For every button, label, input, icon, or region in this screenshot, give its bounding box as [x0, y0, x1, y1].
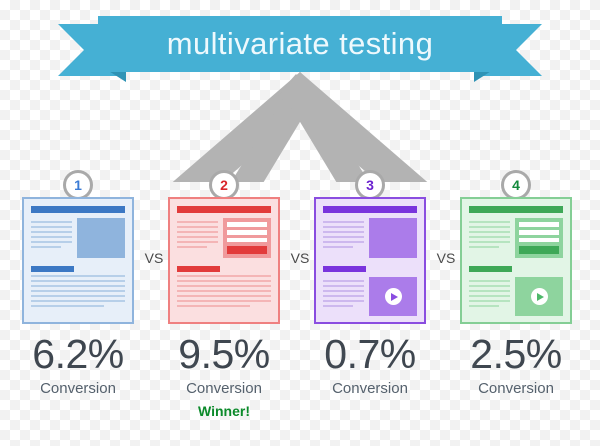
stat-variant-2: 9.5% Conversion Winner!: [156, 334, 292, 419]
text-lines-column: [323, 218, 364, 260]
conversion-value: 6.2%: [10, 334, 146, 375]
body-text-lines: [31, 272, 125, 316]
pin-circle: 3: [355, 170, 385, 200]
body-text-lines: [177, 272, 271, 316]
hero-image-block: [369, 218, 417, 258]
play-icon[interactable]: [531, 288, 548, 305]
pin-circle: 1: [63, 170, 93, 200]
card-upper-section: [177, 218, 271, 260]
text-lines-column: [469, 218, 510, 260]
variant-card-4[interactable]: [460, 197, 572, 324]
pin-number: 1: [74, 178, 82, 192]
form-input-field[interactable]: [519, 222, 559, 227]
banner-band: multivariate testing: [98, 16, 502, 72]
form-input-field[interactable]: [227, 230, 267, 235]
vs-label-2-3: VS: [283, 250, 317, 266]
stat-variant-1: 6.2% Conversion: [10, 334, 146, 397]
vs-label-3-4: VS: [429, 250, 463, 266]
conversion-value: 0.7%: [302, 334, 438, 375]
card-lower-section: [469, 277, 563, 316]
conversion-label: Conversion: [156, 380, 292, 397]
form-input-field[interactable]: [227, 222, 267, 227]
form-input-field[interactable]: [519, 238, 559, 243]
video-player-block[interactable]: [515, 277, 563, 316]
play-icon[interactable]: [385, 288, 402, 305]
card-upper-section: [469, 218, 563, 260]
variant-card-1[interactable]: [22, 197, 134, 324]
conversion-label: Conversion: [10, 380, 146, 397]
card-upper-section: [31, 218, 125, 260]
conversion-value: 2.5%: [448, 334, 584, 375]
card-upper-section: [323, 218, 417, 260]
card-lower-section: [323, 277, 417, 316]
hero-image-block: [77, 218, 125, 258]
page-header-bar: [31, 206, 125, 213]
pin-number: 3: [366, 178, 374, 192]
variant-card-2[interactable]: [168, 197, 280, 324]
form-submit-button[interactable]: [519, 246, 559, 254]
form-submit-button[interactable]: [227, 246, 267, 254]
section-header-bar: [469, 266, 512, 272]
pin-number: 4: [512, 178, 520, 192]
signup-form-block[interactable]: [223, 218, 271, 258]
video-player-block[interactable]: [369, 277, 417, 316]
page-title: multivariate testing: [167, 26, 433, 62]
conversion-value: 9.5%: [156, 334, 292, 375]
text-lines-column: [177, 218, 218, 260]
text-lines-column: [31, 218, 72, 260]
text-lines-column: [323, 277, 364, 316]
stat-variant-3: 0.7% Conversion: [302, 334, 438, 397]
page-header-bar: [469, 206, 563, 213]
text-lines-column: [469, 277, 510, 316]
pin-number: 2: [220, 178, 228, 192]
section-header-bar: [323, 266, 366, 272]
pin-circle: 2: [209, 170, 239, 200]
page-header-bar: [177, 206, 271, 213]
conversion-label: Conversion: [448, 380, 584, 397]
arrow-fan-icon: [0, 72, 600, 182]
pin-circle: 4: [501, 170, 531, 200]
signup-form-block[interactable]: [515, 218, 563, 258]
vs-label-1-2: VS: [137, 250, 171, 266]
form-input-field[interactable]: [227, 238, 267, 243]
page-header-bar: [323, 206, 417, 213]
variant-card-3[interactable]: [314, 197, 426, 324]
form-input-field[interactable]: [519, 230, 559, 235]
winner-badge: Winner!: [156, 403, 292, 419]
conversion-label: Conversion: [302, 380, 438, 397]
stat-variant-4: 2.5% Conversion: [448, 334, 584, 397]
infographic-canvas: multivariate testing 1 2: [0, 0, 600, 446]
